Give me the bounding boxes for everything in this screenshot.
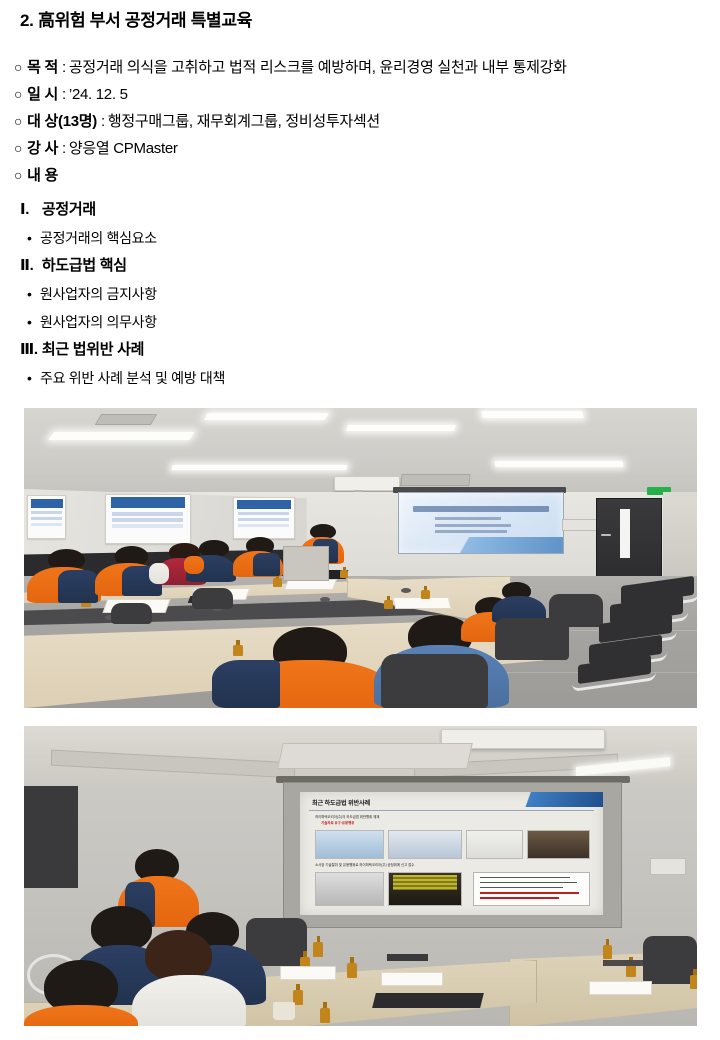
outline-item-text: 공정거래의 핵심요소 — [40, 230, 157, 246]
info-label-datetime: 일 시 — [27, 81, 58, 108]
slide-image — [388, 830, 463, 859]
slide-text-box — [473, 872, 590, 906]
slide-image — [527, 830, 590, 859]
slide-title-bar — [413, 506, 548, 511]
attendee-shoulder — [184, 556, 204, 574]
projection-screen: 최근 하도급법 위반사례 하이퍼텍코리아(주)의 하도급법 위반행위 제재 기술… — [300, 792, 603, 915]
circle-bullet-icon: ○ — [14, 135, 22, 162]
drink-bottle — [340, 570, 348, 578]
attendee-body — [58, 570, 98, 603]
dot-bullet-icon: • — [27, 280, 32, 308]
info-label-contents: 내 용 — [27, 162, 58, 189]
drink-bottle — [313, 942, 323, 957]
table-grommet — [401, 588, 411, 593]
slide-corner-decoration — [500, 792, 603, 807]
slide-image — [388, 872, 463, 906]
side-wall-panel — [24, 786, 78, 888]
slide-red-text: 기술자료 요구·유용행위 — [321, 820, 354, 825]
document-page: 2. 高위험 부서 공정거래 특별교육 ○ 목 적 : 공정거래 의식을 고취하… — [0, 0, 720, 1040]
info-label-audience: 대 상(13명) — [27, 108, 97, 135]
info-value-audience: 행정구매그룹, 재무회계그룹, 정비성투자섹션 — [108, 108, 380, 135]
office-chair — [192, 588, 232, 609]
drink-bottle — [320, 1008, 330, 1023]
attendee-body — [132, 975, 246, 1026]
contents-outline: Ⅰ. 공정거래 • 공정거래의 핵심요소 Ⅱ. 하도급법 핵심 • 원사업자의 … — [14, 196, 714, 392]
info-colon-datetime: : — [62, 81, 66, 108]
attendee-arm — [212, 660, 279, 708]
page-title: 2. 高위험 부서 공정거래 특별교육 — [20, 6, 252, 31]
projection-screen — [398, 492, 565, 554]
dot-bullet-icon: • — [27, 364, 32, 392]
info-row-purpose: ○ 목 적 : 공정거래 의식을 고취하고 법적 리스크를 예방하며, 윤리경영… — [14, 54, 714, 81]
attendee-sleeve — [149, 563, 169, 584]
office-chair — [111, 603, 151, 624]
wall-socket-panel — [650, 858, 686, 875]
laptop-on-table — [387, 954, 427, 961]
laptop-on-table — [372, 993, 483, 1008]
info-label-purpose: 목 적 — [27, 54, 58, 81]
slide-image — [315, 830, 384, 859]
paper-on-table — [381, 972, 444, 986]
ceiling-vent — [400, 474, 471, 486]
info-block: ○ 목 적 : 공정거래 의식을 고취하고 법적 리스크를 예방하며, 윤리경영… — [14, 54, 714, 189]
table-grommet — [320, 597, 330, 602]
drink-bottle — [384, 600, 393, 609]
ceiling-vent — [95, 414, 157, 425]
outline-heading-text-3: 최근 법위반 사례 — [42, 341, 144, 358]
outline-heading-text-2: 하도급법 핵심 — [42, 257, 127, 274]
paper-on-table — [589, 981, 652, 995]
info-colon-purpose: : — [62, 54, 66, 81]
podium — [283, 546, 329, 581]
slide-highlight-band — [393, 875, 457, 889]
outline-item: • 공정거래의 핵심요소 — [14, 224, 714, 252]
photo-scene — [24, 408, 697, 708]
slide-text-line — [435, 524, 511, 527]
slide-box-line — [480, 877, 570, 878]
office-chair — [381, 654, 489, 708]
slide-title-rule — [309, 810, 594, 811]
notebook-on-table — [280, 966, 336, 980]
outline-heading-3: Ⅲ. 최근 법위반 사례 — [14, 336, 714, 364]
ceiling-light — [204, 413, 329, 420]
right-wall — [663, 492, 697, 576]
outline-item-text: 주요 위반 사례 분석 및 예방 대책 — [40, 370, 225, 386]
drink-bottle — [233, 645, 244, 656]
photo-scene: 최근 하도급법 위반사례 하이퍼텍코리아(주)의 하도급법 위반행위 제재 기술… — [24, 726, 697, 1026]
ceiling-light — [48, 432, 195, 440]
circle-bullet-icon: ○ — [14, 54, 22, 81]
attendee-head — [145, 930, 212, 981]
ceiling-light — [481, 411, 584, 418]
outline-numeral-1: Ⅰ. — [20, 196, 38, 224]
training-photo-screen-closeup: 최근 하도급법 위반사례 하이퍼텍코리아(주)의 하도급법 위반행위 제재 기술… — [24, 726, 697, 1026]
slide-title: 최근 하도급법 위반사례 — [312, 798, 370, 807]
outline-heading-text-1: 공정거래 — [42, 201, 96, 218]
outline-item: • 원사업자의 의무사항 — [14, 308, 714, 336]
outline-numeral-3: Ⅲ. — [20, 336, 38, 364]
table-grommet — [603, 960, 643, 966]
dot-bullet-icon: • — [27, 224, 32, 252]
wall-poster — [233, 497, 296, 540]
outline-heading-1: Ⅰ. 공정거래 — [14, 196, 714, 224]
info-row-audience: ○ 대 상(13명) : 행정구매그룹, 재무회계그룹, 정비성투자섹션 — [14, 108, 714, 135]
drink-bottle — [347, 963, 357, 978]
stacked-chairs — [559, 576, 694, 696]
wall-poster — [27, 495, 66, 539]
wall-socket-panel — [562, 519, 598, 531]
slide-decoration — [399, 537, 564, 553]
room-door — [596, 498, 662, 580]
outline-item-text: 원사업자의 금지사항 — [40, 286, 157, 302]
info-label-instructor: 강 사 — [27, 135, 58, 162]
circle-bullet-icon: ○ — [14, 162, 22, 189]
ceiling-light — [172, 465, 348, 470]
info-row-contents: ○ 내 용 — [14, 162, 714, 189]
slide-box-line-red — [480, 892, 579, 893]
slide-mid-text: 소사장 기술탈취 및 유용행위로 하이퍼텍코리아(주) 공정위에 신고 접수 — [315, 862, 414, 867]
outline-item-text: 원사업자의 의무사항 — [40, 314, 157, 330]
paper-cup — [273, 1002, 295, 1020]
slide-text-line — [435, 517, 501, 520]
info-value-instructor: 양응열 CPMaster — [69, 135, 178, 162]
paper-on-table — [393, 597, 451, 609]
ceiling-projector — [334, 476, 400, 492]
info-colon-instructor: : — [62, 135, 66, 162]
drink-bottle — [603, 945, 612, 959]
circle-bullet-icon: ○ — [14, 108, 22, 135]
ceiling-light — [495, 461, 624, 467]
ceiling-light — [346, 425, 455, 431]
slide-image — [315, 872, 384, 906]
slide-box-line-red — [480, 897, 558, 898]
dot-bullet-icon: • — [27, 308, 32, 336]
info-value-datetime: ’24. 12. 5 — [69, 81, 128, 108]
circle-bullet-icon: ○ — [14, 81, 22, 108]
slide-text-line — [435, 530, 508, 533]
office-chair — [643, 936, 697, 984]
slide-image — [466, 830, 523, 859]
drink-bottle — [273, 578, 282, 587]
outline-heading-2: Ⅱ. 하도급법 핵심 — [14, 252, 714, 280]
info-row-instructor: ○ 강 사 : 양응열 CPMaster — [14, 135, 714, 162]
info-value-purpose: 공정거래 의식을 고취하고 법적 리스크를 예방하며, 윤리경영 실천과 내부 … — [69, 54, 567, 81]
drink-bottle — [690, 975, 697, 989]
outline-item: • 주요 위반 사례 분석 및 예방 대책 — [14, 364, 714, 392]
info-row-datetime: ○ 일 시 : ’24. 12. 5 — [14, 81, 714, 108]
slide-box-line — [480, 882, 577, 883]
attendee-body — [253, 553, 280, 576]
training-photo-wide-room — [24, 408, 697, 708]
slide-bullet-text: 하이퍼텍코리아(주)의 하도급법 위반행위 제재 — [315, 814, 379, 819]
projector-mount — [277, 743, 473, 769]
wall-poster — [105, 494, 191, 544]
slide-box-line — [480, 887, 563, 888]
door-glass-strip — [620, 509, 630, 558]
outline-numeral-2: Ⅱ. — [20, 252, 38, 280]
outline-item: • 원사업자의 금지사항 — [14, 280, 714, 308]
door-handle — [601, 534, 611, 536]
drink-bottle — [421, 590, 430, 599]
info-colon-audience: : — [101, 108, 105, 135]
drink-bottle — [293, 990, 303, 1005]
